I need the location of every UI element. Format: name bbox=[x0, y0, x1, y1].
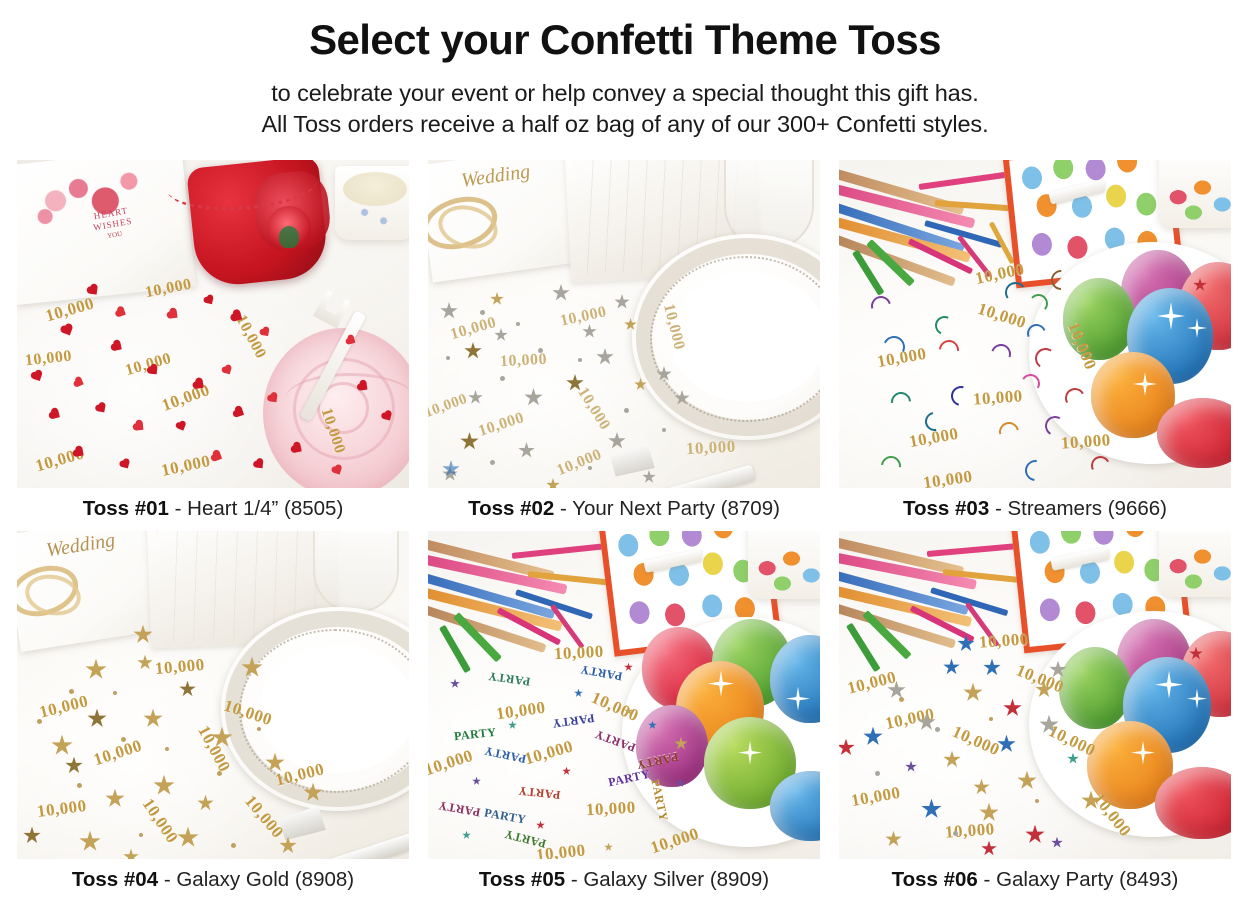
toss-number-04: Toss #04 bbox=[72, 868, 158, 891]
toss-photo-03[interactable]: 10,000 10,000 10,000 10,000 10,000 10,00… bbox=[839, 160, 1231, 488]
subtitle-line-2: All Toss orders receive a half oz bag of… bbox=[0, 109, 1250, 140]
toss-number-02: Toss #02 bbox=[468, 497, 554, 520]
toss-code-05: (8909) bbox=[710, 868, 769, 891]
confetti-word: 10,000 bbox=[500, 351, 548, 371]
toss-photo-05[interactable]: 10,000 10,000 10,000 10,000 10,000 10,00… bbox=[428, 531, 820, 859]
confetti-word: 10,000 bbox=[944, 819, 995, 842]
toss-name-04: Galaxy Gold bbox=[176, 868, 289, 891]
toss-photo-04[interactable]: Wedding 10,000 10,000 10,000 bbox=[17, 531, 409, 859]
toss-separator-02: - bbox=[560, 497, 567, 520]
confetti-word: 10,000 bbox=[586, 797, 637, 820]
toss-caption-04: Toss #04 - Galaxy Gold (8908) bbox=[17, 859, 409, 893]
toss-caption-05: Toss #05 - Galaxy Silver (8909) bbox=[428, 859, 820, 893]
toss-number-01: Toss #01 bbox=[83, 497, 169, 520]
toss-number-05: Toss #05 bbox=[479, 868, 565, 891]
toss-separator-04: - bbox=[164, 868, 171, 891]
toss-caption-03: Toss #03 - Streamers (9666) bbox=[839, 488, 1231, 522]
toss-photo-01[interactable]: HEART WISHES YOU bbox=[17, 160, 409, 488]
confetti-word: 10,000 bbox=[1060, 430, 1111, 453]
confetti-word: 10,000 bbox=[972, 386, 1023, 409]
page-title: Select your Confetti Theme Toss bbox=[0, 18, 1250, 62]
toss-name-03: Streamers bbox=[1007, 497, 1102, 520]
toss-photo-06[interactable]: 10,000 10,000 10,000 10,000 10,000 10,00… bbox=[839, 531, 1231, 859]
toss-name-01: Heart 1/4” bbox=[187, 497, 278, 520]
toss-row-2: Wedding 10,000 10,000 10,000 bbox=[17, 531, 1233, 893]
toss-separator-03: - bbox=[995, 497, 1002, 520]
confetti-word: 10,000 bbox=[554, 641, 605, 664]
toss-number-03: Toss #03 bbox=[903, 497, 989, 520]
toss-code-04: (8908) bbox=[295, 868, 354, 891]
toss-name-06: Galaxy Party bbox=[996, 868, 1113, 891]
toss-row-1: HEART WISHES YOU bbox=[17, 160, 1233, 522]
toss-name-02: Your Next Party bbox=[572, 497, 715, 520]
toss-separator-01: - bbox=[175, 497, 182, 520]
confetti-word: 10,000 bbox=[154, 654, 205, 678]
toss-card-02[interactable]: Wedding bbox=[428, 160, 820, 522]
toss-caption-06: Toss #06 - Galaxy Party (8493) bbox=[839, 859, 1231, 893]
wine-glass bbox=[313, 531, 399, 613]
toss-code-06: (8493) bbox=[1119, 868, 1178, 891]
toss-name-05: Galaxy Silver bbox=[583, 868, 704, 891]
page-header: Select your Confetti Theme Toss to celeb… bbox=[0, 0, 1250, 140]
subtitle-line-1: to celebrate your event or help convey a… bbox=[0, 78, 1250, 109]
toss-card-01[interactable]: HEART WISHES YOU bbox=[17, 160, 409, 522]
confetti-word: 10,000 bbox=[978, 629, 1029, 652]
toss-card-04[interactable]: Wedding 10,000 10,000 10,000 bbox=[17, 531, 409, 893]
toss-photo-02[interactable]: Wedding bbox=[428, 160, 820, 488]
toss-card-03[interactable]: 10,000 10,000 10,000 10,000 10,000 10,00… bbox=[839, 160, 1231, 522]
toss-caption-01: Toss #01 - Heart 1/4” (8505) bbox=[17, 488, 409, 522]
toss-card-05[interactable]: 10,000 10,000 10,000 10,000 10,000 10,00… bbox=[428, 531, 820, 893]
confetti-theme-selector-page: Select your Confetti Theme Toss to celeb… bbox=[0, 0, 1250, 917]
toss-card-06[interactable]: 10,000 10,000 10,000 10,000 10,000 10,00… bbox=[839, 531, 1231, 893]
toss-caption-02: Toss #02 - Your Next Party (8709) bbox=[428, 488, 820, 522]
confetti-word: 10,000 bbox=[686, 437, 737, 460]
toss-number-06: Toss #06 bbox=[892, 868, 978, 891]
toss-code-01: (8505) bbox=[284, 497, 343, 520]
toss-code-02: (8709) bbox=[721, 497, 780, 520]
toss-separator-06: - bbox=[984, 868, 991, 891]
toss-code-03: (9666) bbox=[1108, 497, 1167, 520]
toss-options-grid: HEART WISHES YOU bbox=[17, 160, 1233, 901]
toss-separator-05: - bbox=[571, 868, 578, 891]
